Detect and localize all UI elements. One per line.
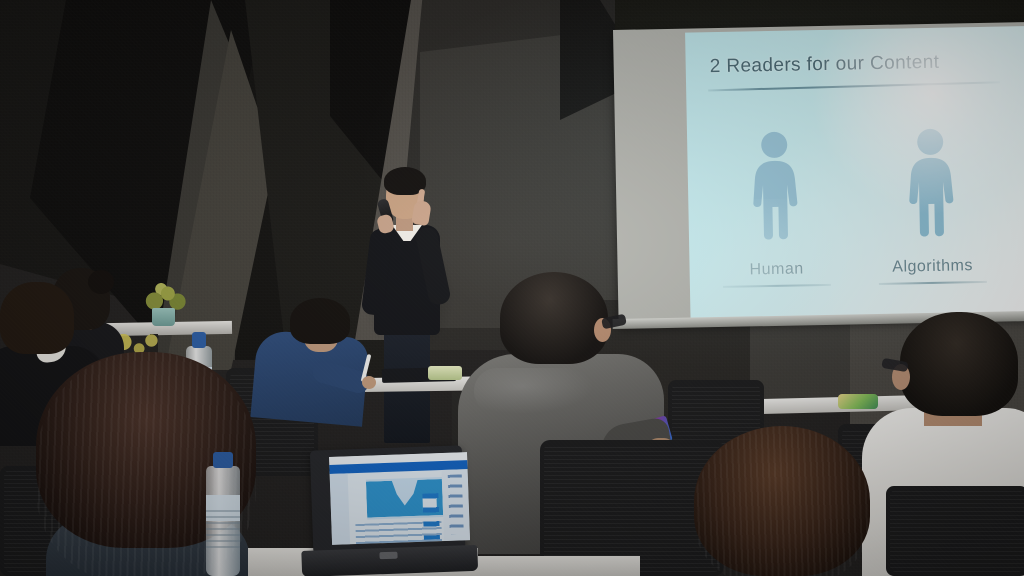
desk-foreground [470,556,640,576]
laptop[interactable] [298,445,474,576]
person-hand [362,376,376,389]
bottle-cap [192,332,207,348]
app-sidebar [330,473,350,545]
projection-screen: 2 Readers for our Content Human Algorith… [613,22,1024,330]
fabric-highlight [474,368,594,414]
person-hair [500,272,608,364]
person-hair [290,298,350,344]
water-bottle [206,452,240,576]
action-buttons [422,493,440,540]
side-menu-items [448,474,464,534]
projector-hotspot [796,26,1024,220]
laptop-lid [310,445,466,554]
speaker-hand-raised [411,200,432,226]
person-hair [900,312,1018,416]
hair-strands [694,426,870,576]
slide-label-algorithms: Algorithms [857,256,1007,277]
audience-member-front-right [694,426,870,576]
laptop-screen[interactable] [329,452,470,545]
presentation-slide: 2 Readers for our Content Human Algorith… [685,26,1024,321]
bottle-cap [213,452,232,468]
presentation-photo: 2 Readers for our Content Human Algorith… [0,0,1024,576]
person-hair [0,282,74,354]
slide-label-underline [879,281,987,285]
audience-member-writing [254,298,372,428]
laptop-logo [379,552,397,560]
plant-small-pot [152,308,175,326]
office-chair [886,486,1024,576]
laptop-keyboard-base [301,545,478,576]
